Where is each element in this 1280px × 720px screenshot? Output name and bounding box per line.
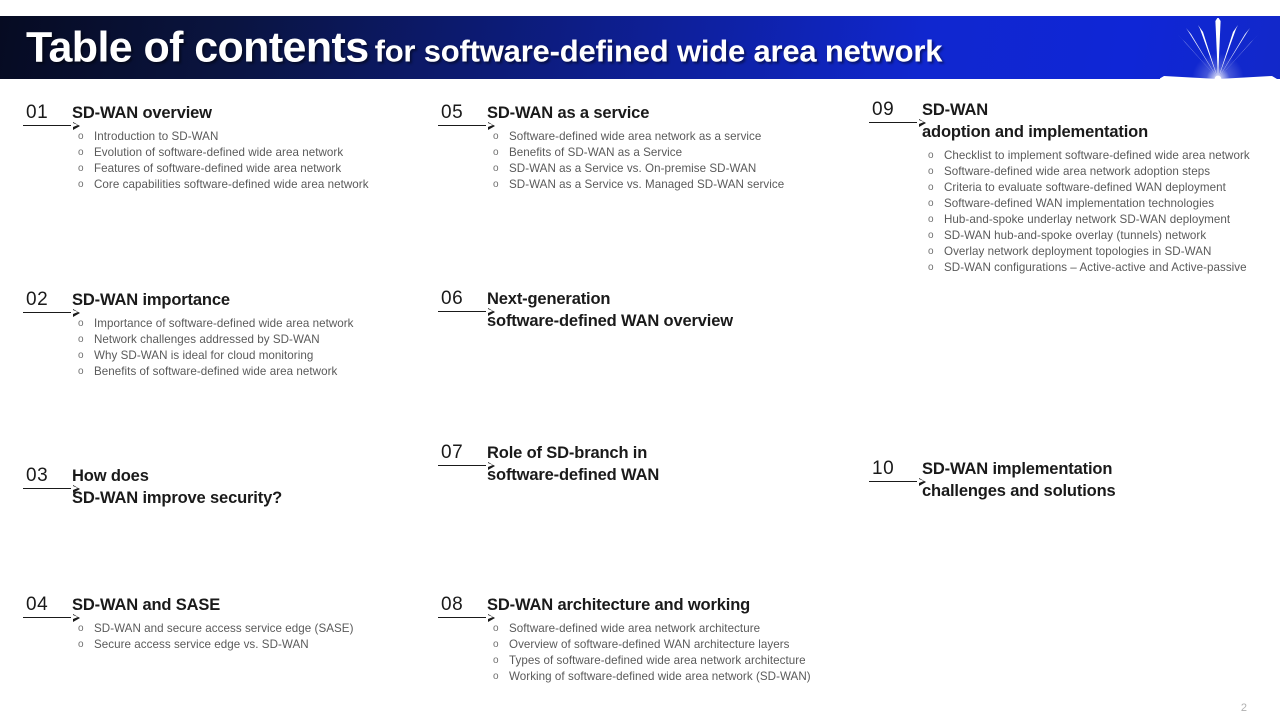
arrow-right-icon bbox=[438, 311, 486, 312]
toc-entry-title-line: SD-WAN as a service bbox=[487, 103, 847, 125]
toc-entry-title-line: Next-generation bbox=[487, 289, 847, 311]
toc-entry-title-line: SD-WAN architecture and working bbox=[487, 595, 847, 617]
toc-subitem[interactable]: Features of software-defined wide area n… bbox=[94, 161, 432, 177]
toc-entry-title[interactable]: SD-WAN implementationchallenges and solu… bbox=[922, 459, 1270, 503]
toc-entry-title-line: adoption and implementation bbox=[922, 122, 1270, 144]
toc-number-marker: 09 bbox=[868, 100, 930, 123]
toc-subitem[interactable]: SD-WAN hub-and-spoke overlay (tunnels) n… bbox=[944, 228, 1270, 244]
toc-entry-title[interactable]: SD-WAN as a service bbox=[487, 103, 847, 125]
toc-subitem[interactable]: SD-WAN and secure access service edge (S… bbox=[94, 621, 432, 637]
arrow-right-icon bbox=[23, 125, 71, 126]
toc-entry-title[interactable]: Role of SD-branch insoftware-defined WAN bbox=[487, 443, 847, 487]
toc-subitem-list: Importance of software-defined wide area… bbox=[72, 316, 432, 380]
toc-subitem[interactable]: Secure access service edge vs. SD-WAN bbox=[94, 637, 432, 653]
toc-subitem[interactable]: SD-WAN as a Service vs. On-premise SD-WA… bbox=[509, 161, 847, 177]
toc-subitem[interactable]: Benefits of SD-WAN as a Service bbox=[509, 145, 847, 161]
toc-entry-body: Role of SD-branch insoftware-defined WAN bbox=[487, 443, 847, 487]
toc-subitem[interactable]: Importance of software-defined wide area… bbox=[94, 316, 432, 332]
page-title-main: Table of contents bbox=[26, 23, 369, 71]
toc-entry-title[interactable]: Next-generationsoftware-defined WAN over… bbox=[487, 289, 847, 333]
arrow-right-icon bbox=[438, 125, 486, 126]
toc-entry-title-line: SD-WAN importance bbox=[72, 290, 432, 312]
toc-subitem[interactable]: Why SD-WAN is ideal for cloud monitoring bbox=[94, 348, 432, 364]
toc-subitem[interactable]: Introduction to SD-WAN bbox=[94, 129, 432, 145]
toc-entry-body: Next-generationsoftware-defined WAN over… bbox=[487, 289, 847, 333]
arrow-right-icon bbox=[438, 617, 486, 618]
toc-subitem[interactable]: SD-WAN configurations – Active-active an… bbox=[944, 260, 1270, 276]
toc-subitem[interactable]: Benefits of software-defined wide area n… bbox=[94, 364, 432, 380]
toc-entry-title-line: SD-WAN and SASE bbox=[72, 595, 432, 617]
toc-subitem[interactable]: Overview of software-defined WAN archite… bbox=[509, 637, 847, 653]
toc-number-marker: 10 bbox=[868, 459, 930, 482]
toc-entry-body: SD-WAN as a serviceSoftware-defined wide… bbox=[487, 103, 847, 193]
toc-entry-title-line: SD-WAN overview bbox=[72, 103, 432, 125]
toc-entry-title[interactable]: How doesSD-WAN improve security? bbox=[72, 466, 432, 510]
toc-subitem[interactable]: Overlay network deployment topologies in… bbox=[944, 244, 1270, 260]
toc-entry-title[interactable]: SD-WANadoption and implementation bbox=[922, 100, 1270, 144]
toc-subitem-list: Introduction to SD-WANEvolution of softw… bbox=[72, 129, 432, 193]
toc-subitem[interactable]: Hub-and-spoke underlay network SD-WAN de… bbox=[944, 212, 1270, 228]
toc-subitem-list: Checklist to implement software-defined … bbox=[922, 148, 1270, 277]
toc-entry-title-line: software-defined WAN overview bbox=[487, 311, 847, 333]
toc-entry-title[interactable]: SD-WAN architecture and working bbox=[487, 595, 847, 617]
toc-subitem[interactable]: SD-WAN as a Service vs. Managed SD-WAN s… bbox=[509, 177, 847, 193]
toc-entry-body: SD-WAN implementationchallenges and solu… bbox=[922, 459, 1270, 503]
toc-subitem[interactable]: Software-defined wide area network as a … bbox=[509, 129, 847, 145]
page-title-subtitle: for software-defined wide area network bbox=[375, 33, 943, 68]
toc-subitem[interactable]: Software-defined wide area network archi… bbox=[509, 621, 847, 637]
toc-entry-title-line: challenges and solutions bbox=[922, 481, 1270, 503]
page-number: 2 bbox=[1241, 702, 1247, 714]
toc-subitem[interactable]: Types of software-defined wide area netw… bbox=[509, 653, 847, 669]
toc-entry-body: How doesSD-WAN improve security? bbox=[72, 466, 432, 510]
toc-subitem[interactable]: Software-defined wide area network adopt… bbox=[944, 164, 1270, 180]
toc-number: 09 bbox=[868, 100, 930, 119]
arrow-right-icon bbox=[23, 312, 71, 313]
toc-subitem[interactable]: Software-defined WAN implementation tech… bbox=[944, 196, 1270, 212]
toc-entry-body: SD-WAN and SASESD-WAN and secure access … bbox=[72, 595, 432, 653]
toc-entry-body: SD-WAN overviewIntroduction to SD-WANEvo… bbox=[72, 103, 432, 193]
toc-subitem[interactable]: Checklist to implement software-defined … bbox=[944, 148, 1270, 164]
toc-subitem[interactable]: Working of software-defined wide area ne… bbox=[509, 669, 847, 685]
toc-subitem[interactable]: Criteria to evaluate software-defined WA… bbox=[944, 180, 1270, 196]
arrow-right-icon bbox=[23, 488, 71, 489]
toc-subitem[interactable]: Core capabilities software-defined wide … bbox=[94, 177, 432, 193]
toc-entry-title-line: Role of SD-branch in bbox=[487, 443, 847, 465]
toc-subitem[interactable]: Network challenges addressed by SD-WAN bbox=[94, 332, 432, 348]
toc-entry-title-line: How does bbox=[72, 466, 432, 488]
arrow-right-icon bbox=[869, 481, 917, 482]
toc-entry-title-line: SD-WAN bbox=[922, 100, 1270, 122]
arrow-right-icon bbox=[869, 122, 917, 123]
toc-subitem-list: Software-defined wide area network as a … bbox=[487, 129, 847, 193]
toc-entry-title[interactable]: SD-WAN and SASE bbox=[72, 595, 432, 617]
title-banner: Table of contentsfor software-defined wi… bbox=[0, 16, 1280, 79]
toc-entry-title-line: SD-WAN implementation bbox=[922, 459, 1270, 481]
toc-subitem-list: SD-WAN and secure access service edge (S… bbox=[72, 621, 432, 653]
toc-subitem-list: Software-defined wide area network archi… bbox=[487, 621, 847, 685]
toc-entry-body: SD-WAN architecture and workingSoftware-… bbox=[487, 595, 847, 685]
toc-entry-title-line: SD-WAN improve security? bbox=[72, 488, 432, 510]
arrow-right-icon bbox=[23, 617, 71, 618]
page-title: Table of contentsfor software-defined wi… bbox=[26, 26, 942, 69]
arrow-right-icon bbox=[438, 465, 486, 466]
toc-entry-title-line: software-defined WAN bbox=[487, 465, 847, 487]
toc-entry-title[interactable]: SD-WAN overview bbox=[72, 103, 432, 125]
toc-entry-body: SD-WAN importanceImportance of software-… bbox=[72, 290, 432, 380]
toc-subitem[interactable]: Evolution of software-defined wide area … bbox=[94, 145, 432, 161]
toc-entry-body: SD-WANadoption and implementationCheckli… bbox=[922, 100, 1270, 276]
toc-entry-title[interactable]: SD-WAN importance bbox=[72, 290, 432, 312]
toc-number: 10 bbox=[868, 459, 930, 478]
